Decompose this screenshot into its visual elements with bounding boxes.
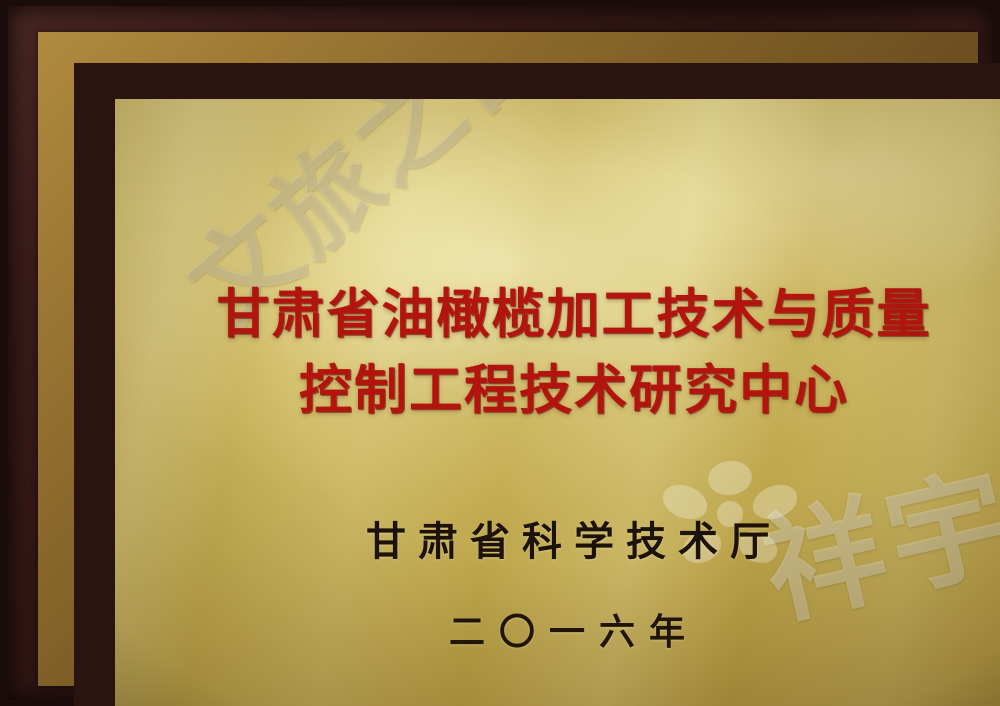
plaque-inner-line: 文旅之窗 祥宇 甘肃省油橄榄加工 [74,63,1000,706]
plaque-year: 二〇一六年 [115,603,1000,655]
plaque-issuer: 甘肃省科学技术厅 [115,509,1000,567]
plaque-title-line-2: 控制工程技术研究中心 [115,353,1000,429]
plaque-face: 文旅之窗 祥宇 甘肃省油橄榄加工 [115,99,1000,706]
flower-logo-icon [655,454,805,574]
plaque-photo: 文旅之窗 祥宇 甘肃省油橄榄加工 [0,0,1000,706]
watermark-left: 文旅之窗 [150,99,575,353]
plaque-bevel: 文旅之窗 祥宇 甘肃省油橄榄加工 [38,32,978,686]
plaque-title-line-1: 甘肃省油橄榄加工技术与质量 [115,277,1000,353]
plaque-text-block: 甘肃省油橄榄加工技术与质量 控制工程技术研究中心 甘肃省科学技术厅 二〇一六年 [115,277,1000,655]
plaque-vignette [115,99,1000,706]
plaque-sheen [115,99,1000,706]
plaque-outer-frame: 文旅之窗 祥宇 甘肃省油橄榄加工 [8,6,992,700]
watermark-right: 祥宇 [745,423,1000,649]
